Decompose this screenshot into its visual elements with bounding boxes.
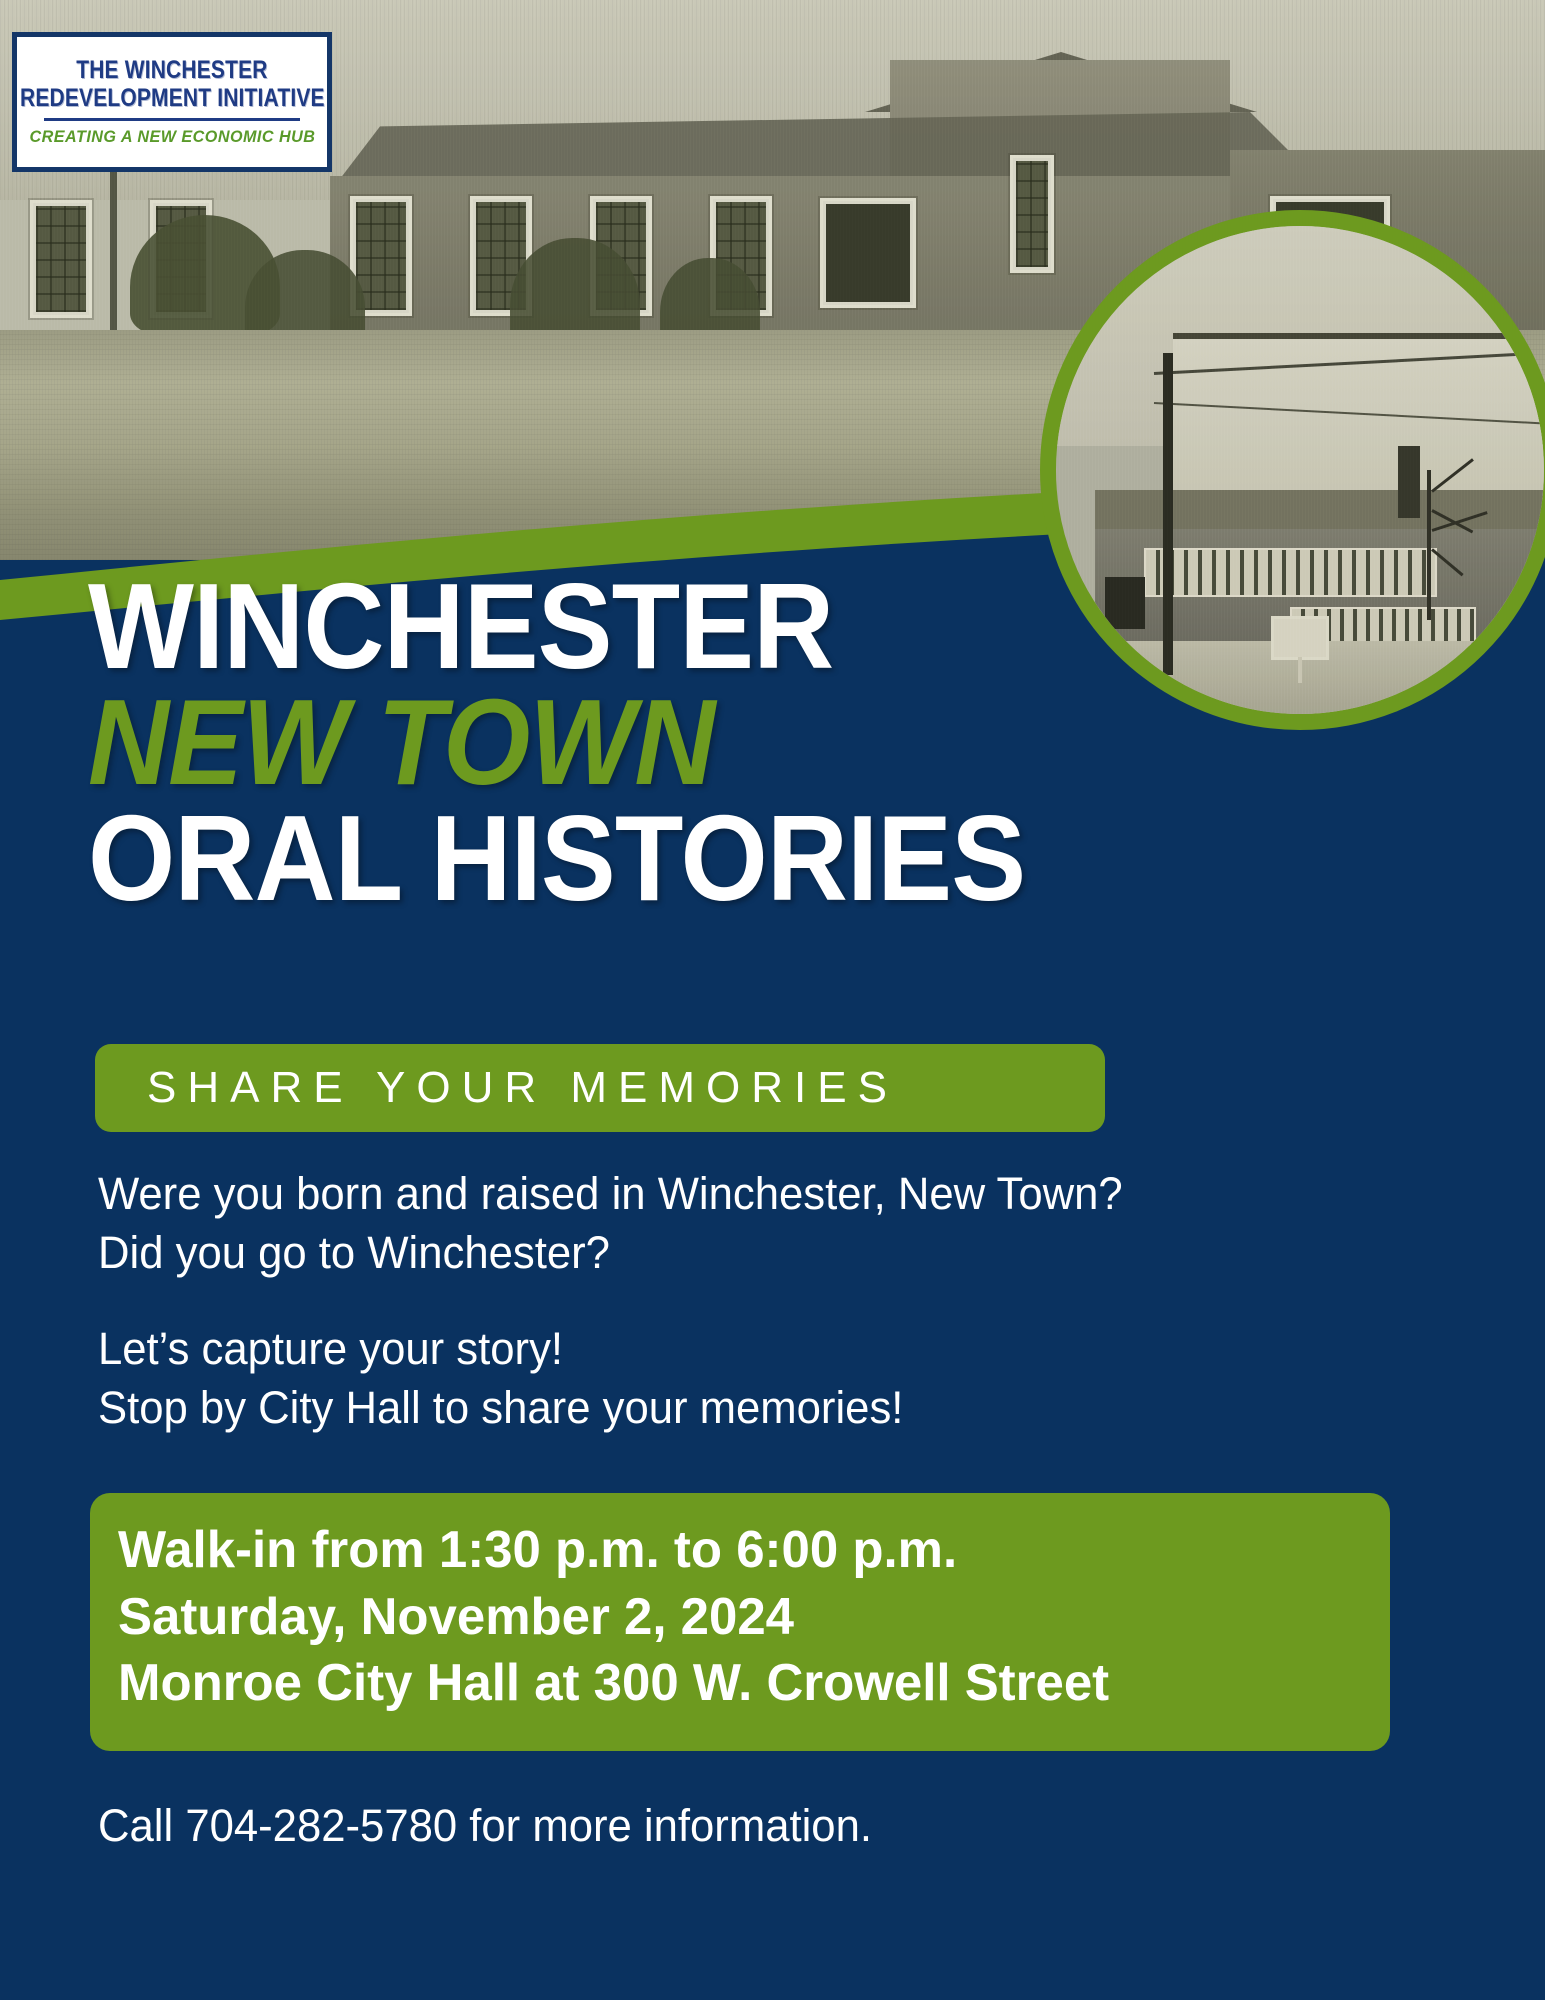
title-line-new-town: NEW TOWN xyxy=(88,686,1008,798)
window xyxy=(820,198,916,308)
logo-divider-rule xyxy=(44,118,299,121)
inset-chimney xyxy=(1398,446,1420,518)
body-para1-line2: Did you go to Winchester? xyxy=(98,1224,1398,1283)
inset-window-row xyxy=(1144,548,1437,597)
logo-tagline: CREATING A NEW ECONOMIC HUB xyxy=(29,127,315,147)
inset-sign xyxy=(1271,616,1329,660)
organization-logo[interactable]: THE WINCHESTER REDEVELOPMENT INITIATIVE … xyxy=(12,32,332,172)
body-para1-line1: Were you born and raised in Winchester, … xyxy=(98,1165,1398,1224)
inset-gym-wall xyxy=(1173,333,1544,499)
flyer-page: THE WINCHESTER REDEVELOPMENT INITIATIVE … xyxy=(0,0,1545,2000)
logo-line-2: REDEVELOPMENT INITIATIVE xyxy=(20,85,325,111)
circular-inset-photo xyxy=(1040,210,1545,730)
window xyxy=(1010,155,1054,273)
event-location: Monroe City Hall at 300 W. Crowell Stree… xyxy=(118,1650,1365,1717)
page-title: WINCHESTER NEW TOWN ORAL HISTORIES xyxy=(88,570,1088,915)
body-para2-line1: Let’s capture your story! xyxy=(98,1320,1398,1379)
title-line-oral-histories: ORAL HISTORIES xyxy=(88,802,1008,914)
window xyxy=(30,200,92,318)
inset-bare-tree xyxy=(1427,470,1431,620)
body-copy: Were you born and raised in Winchester, … xyxy=(98,1165,1438,1437)
event-date: Saturday, November 2, 2024 xyxy=(118,1584,1365,1651)
badge-label: SHARE YOUR MEMORIES xyxy=(95,1063,898,1113)
share-your-memories-badge: SHARE YOUR MEMORIES xyxy=(95,1044,1105,1132)
inset-utility-pole xyxy=(1163,353,1173,675)
event-details-box: Walk-in from 1:30 p.m. to 6:00 p.m. Satu… xyxy=(90,1493,1390,1751)
inset-roof xyxy=(1095,490,1544,534)
event-time: Walk-in from 1:30 p.m. to 6:00 p.m. xyxy=(118,1517,1365,1584)
contact-footer: Call 704-282-5780 for more information. xyxy=(98,1800,872,1852)
body-para2-line2: Stop by City Hall to share your memories… xyxy=(98,1379,1398,1438)
paragraph-spacer xyxy=(98,1282,1438,1320)
inset-doorway xyxy=(1105,577,1145,629)
title-line-winchester: WINCHESTER xyxy=(88,570,1008,682)
logo-line-1: THE WINCHESTER xyxy=(76,57,267,83)
